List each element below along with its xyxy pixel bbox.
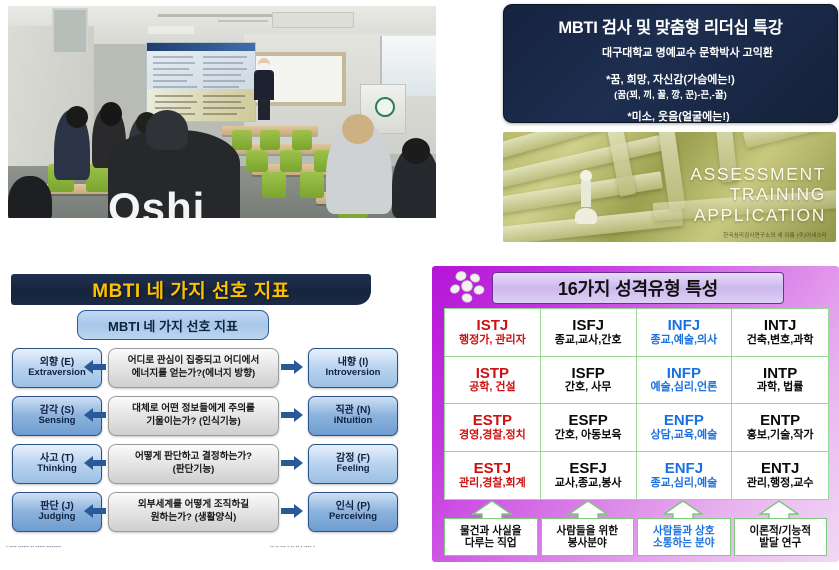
- diagram-subtitle-box: MBTI 네 가지 선호 지표: [77, 310, 269, 340]
- type-cell-esfp[interactable]: ESFP 간호, 아동보육: [541, 404, 637, 452]
- flower-molecule-icon: [448, 270, 488, 304]
- slide-bullet-1: *꿈, 희망, 자신감(가슴에는!): [504, 71, 837, 87]
- question-lifestyle: 외부세계를 어떻게 조직하길 원하는가? (생활양식): [108, 492, 279, 532]
- types-grid: ISTJ 행정가, 관리자 ISFJ 종교,교사,간호 INFJ 종교,예술,의…: [444, 308, 829, 500]
- type-desc: 교사,종교,봉사: [555, 478, 622, 490]
- student-head: [100, 102, 122, 126]
- type-code: ESTP: [473, 413, 512, 429]
- diagram-header-bar: MBTI 네 가지 선호 지표: [11, 274, 371, 305]
- pole-label-en: Feeling: [336, 464, 369, 474]
- diagram-header-title: MBTI 네 가지 선호 지표: [92, 276, 289, 303]
- type-cell-infp[interactable]: INFP 예술,심리,언론: [637, 357, 733, 405]
- maze-figure: [575, 170, 597, 226]
- lecturer-legs: [258, 98, 270, 120]
- type-code: ISFP: [571, 366, 604, 382]
- banner-credit: 한국심리검사연구소의 새 이름 (주)어세스타: [723, 231, 827, 239]
- pole-introversion: 내향 (I) Introversion: [308, 348, 398, 388]
- question-line-2: 에너지를 얻는가?(에너지 방향): [132, 368, 256, 379]
- legend-line-2: 봉사분야: [568, 537, 607, 549]
- type-code: ESTJ: [474, 461, 512, 477]
- chair: [292, 130, 312, 150]
- arrow-left-icon: [84, 455, 106, 471]
- type-code: ISFJ: [572, 318, 604, 334]
- slide-presenter: 대구대학교 명예교수 문학박사 고익환: [504, 44, 837, 60]
- preference-row-perceiving-function: 감각 (S) Sensing 대체로 어떤 정보들에게 주의를 기울이는가? (…: [0, 396, 420, 440]
- type-desc: 홍보,기술,작가: [747, 430, 814, 442]
- pole-label-en: Extraversion: [28, 368, 86, 378]
- pole-label-en: iNtuition: [334, 416, 373, 426]
- legend-line-2: 다루는 직업: [465, 537, 517, 549]
- type-cell-esfj[interactable]: ESFJ 교사,종교,봉사: [541, 452, 637, 500]
- student-head: [66, 106, 88, 128]
- diagram-footer-watermark: ▪ ▪▪▪▪ ▪▪▪▪▪▪ ▪▪ ▪▪▪▪▪ ▪▪▪▪▪▪▪▪ ▪▪ ▪▪ ▪▪…: [2, 544, 418, 552]
- type-cell-infj[interactable]: INFJ 종교,예술,의사: [637, 309, 733, 357]
- arrow-right-icon: [281, 407, 303, 423]
- type-code: INTJ: [764, 318, 797, 334]
- classroom-lecture-photo: Oshi: [8, 6, 436, 218]
- chair: [280, 150, 302, 172]
- question-perceiving-function: 대체로 어떤 정보들에게 주의를 기울이는가? (인식기능): [108, 396, 279, 436]
- type-cell-estj[interactable]: ESTJ 관리,경찰,회계: [445, 452, 541, 500]
- type-desc: 상담,교육,예술: [650, 430, 717, 442]
- legend-service-people[interactable]: 사람들을 위한 봉사분야: [541, 518, 635, 556]
- question-line-1: 어떻게 판단하고 결정하는가?: [135, 451, 252, 462]
- question-energy: 어디로 관심이 집중되고 어디에서 에너지를 얻는가?(에너지 방향): [108, 348, 279, 388]
- type-code: INFP: [667, 366, 701, 382]
- legend-line-1: 이론적/기능적: [750, 525, 811, 537]
- ceiling-light: [148, 26, 194, 34]
- types-header-box: 16가지 성격유형 특성: [492, 272, 784, 304]
- screen-slide-header: [147, 43, 255, 51]
- type-desc: 공학, 건설: [469, 382, 516, 394]
- arrow-right-icon: [281, 503, 303, 519]
- type-cell-isfp[interactable]: ISFP 간호, 사무: [541, 357, 637, 405]
- lecturer: [254, 58, 274, 120]
- legend-line-2: 발달 연구: [759, 537, 801, 549]
- podium-emblem: [375, 97, 395, 117]
- slide-main-title: MBTI 검사 및 맞춤형 리더십 특강: [504, 14, 837, 38]
- figure-base: [575, 208, 597, 224]
- pole-label-en: Sensing: [39, 416, 76, 426]
- type-cell-entj[interactable]: ENTJ 관리,행정,교수: [732, 452, 828, 500]
- preference-row-energy: 외향 (E) Extraversion 어디로 관심이 집중되고 어디에서 에너…: [0, 348, 420, 392]
- question-line-1: 어디로 관심이 집중되고 어디에서: [128, 355, 260, 366]
- type-cell-enfp[interactable]: ENFP 상담,교육,예술: [637, 404, 733, 452]
- ceiling-vent: [272, 12, 354, 28]
- assessment-training-application-banner: ASSESSMENT TRAINING APPLICATION 한국심리검사연구…: [503, 132, 836, 242]
- type-desc: 관리,행정,교수: [747, 478, 814, 490]
- question-line-2: 기울이는가? (인식기능): [146, 416, 240, 427]
- legend-line-1: 사람들과 상호: [653, 525, 714, 537]
- banner-line-1: ASSESSMENT: [690, 164, 826, 184]
- type-code: ENFJ: [665, 461, 703, 477]
- student-head: [402, 138, 430, 164]
- legend-thinking-facts[interactable]: 물건과 사실을 다루는 직업: [444, 518, 538, 556]
- pole-perceiving: 인식 (P) Perceiving: [308, 492, 398, 532]
- photo-watermark: Oshi: [108, 184, 205, 218]
- preference-row-lifestyle: 판단 (J) Judging 외부세계를 어떻게 조직하길 원하는가? (생활양…: [0, 492, 420, 536]
- question-line-2: 원하는가? (생활양식): [151, 512, 237, 523]
- type-code: INTP: [763, 366, 797, 382]
- student-hood: [146, 110, 188, 150]
- question-line-2: (판단기능): [173, 464, 215, 475]
- pole-label-en: Thinking: [37, 464, 77, 474]
- question-line-1: 대체로 어떤 정보들에게 주의를: [132, 403, 255, 414]
- banner-text: ASSESSMENT TRAINING APPLICATION: [690, 164, 826, 225]
- student: [8, 176, 52, 218]
- types-legend-row: 물건과 사실을 다루는 직업 사람들을 위한 봉사분야 사람들과 상호 소통하는…: [444, 518, 827, 556]
- legend-line-1: 사람들을 위한: [557, 525, 618, 537]
- legend-communication[interactable]: 사람들과 상호 소통하는 분야: [637, 518, 731, 556]
- type-cell-istp[interactable]: ISTP 공학, 건설: [445, 357, 541, 405]
- type-desc: 경영,경찰,정치: [459, 430, 526, 442]
- type-desc: 과학, 법률: [757, 382, 804, 394]
- pole-feeling: 감정 (F) Feeling: [308, 444, 398, 484]
- type-cell-entp[interactable]: ENTP 홍보,기술,작가: [732, 404, 828, 452]
- question-judging-function: 어떻게 판단하고 결정하는가? (판단기능): [108, 444, 279, 484]
- ceiling-projector: [158, 14, 278, 17]
- chair: [262, 172, 286, 198]
- type-desc: 간호, 아동보육: [555, 430, 622, 442]
- mbti-lecture-title-slide: MBTI 검사 및 맞춤형 리더십 특강 대구대학교 명예교수 문학박사 고익환…: [503, 4, 838, 123]
- banner-line-2: TRAINING: [690, 184, 826, 204]
- arrow-right-icon: [281, 455, 303, 471]
- mbti-four-preference-indicators-diagram: MBTI 네 가지 선호 지표 MBTI 네 가지 선호 지표 외향 (E) E…: [0, 272, 420, 562]
- type-desc: 건축,변호,과학: [747, 335, 814, 347]
- type-desc: 행정가, 관리자: [459, 335, 526, 347]
- types-header-title: 16가지 성격유형 특성: [558, 275, 718, 301]
- chair: [232, 130, 252, 150]
- type-code: ENFP: [664, 413, 704, 429]
- figure-body: [581, 181, 591, 207]
- question-line-1: 외부세계를 어떻게 조직하길: [138, 499, 249, 510]
- type-code: ESFJ: [569, 461, 607, 477]
- pole-intuition: 직관 (N) iNtuition: [308, 396, 398, 436]
- banner-line-3: APPLICATION: [690, 205, 826, 225]
- type-code: ESFP: [569, 413, 608, 429]
- type-code: ISTP: [476, 366, 509, 382]
- type-desc: 종교,교사,간호: [555, 335, 622, 347]
- arrow-left-icon: [84, 503, 106, 519]
- type-code: ENTJ: [761, 461, 799, 477]
- sixteen-personality-types-panel: 16가지 성격유형 특성 ISTJ 행정가, 관리자 ISFJ 종교,교사,간호…: [432, 266, 839, 562]
- legend-line-1: 물건과 사실을: [460, 525, 521, 537]
- arrow-right-icon: [281, 359, 303, 375]
- chair: [260, 130, 280, 150]
- type-desc: 관리,경찰,회계: [459, 478, 526, 490]
- type-cell-istj[interactable]: ISTJ 행정가, 관리자: [445, 309, 541, 357]
- type-desc: 종교,심리,예술: [650, 478, 717, 490]
- type-desc: 종교,예술,의사: [650, 335, 717, 347]
- diagram-subtitle-text: MBTI 네 가지 선호 지표: [108, 316, 238, 335]
- legend-line-2: 소통하는 분야: [653, 537, 714, 549]
- chair: [300, 172, 324, 198]
- type-cell-enfj[interactable]: ENFJ 종교,심리,예술: [637, 452, 733, 500]
- slide-bullet-2: (꿈(꾀, 끼, 꼴, 깡, 꾼)-끈,-꿀): [504, 87, 837, 101]
- type-code: ENTP: [760, 413, 800, 429]
- arrow-left-icon: [84, 359, 106, 375]
- type-cell-isfj[interactable]: ISFJ 종교,교사,간호: [541, 309, 637, 357]
- wall-picture-frame: [52, 8, 88, 54]
- type-cell-intp[interactable]: INTP 과학, 법률: [732, 357, 828, 405]
- face-mask: [258, 63, 270, 70]
- ceiling-line: [218, 20, 268, 22]
- pole-label-en: Judging: [39, 512, 76, 522]
- pole-label-en: Introversion: [326, 368, 381, 378]
- type-code: ISTJ: [477, 318, 509, 334]
- type-desc: 예술,심리,언론: [650, 382, 717, 394]
- type-desc: 간호, 사무: [565, 382, 612, 394]
- student-head: [342, 114, 374, 144]
- slide-bullet-3: *미소, 웃음(얼굴에는!): [504, 108, 837, 123]
- arrow-left-icon: [84, 407, 106, 423]
- lecturer-torso: [254, 70, 274, 100]
- type-cell-intj[interactable]: INTJ 건축,변호,과학: [732, 309, 828, 357]
- pole-label-en: Perceiving: [329, 512, 377, 522]
- preference-row-judging-function: 사고 (T) Thinking 어떻게 판단하고 결정하는가? (판단기능) 감…: [0, 444, 420, 488]
- chair: [246, 150, 268, 172]
- type-cell-estp[interactable]: ESTP 경영,경찰,정치: [445, 404, 541, 452]
- type-code: INFJ: [668, 318, 701, 334]
- legend-theoretical-research[interactable]: 이론적/기능적 발달 연구: [734, 518, 828, 556]
